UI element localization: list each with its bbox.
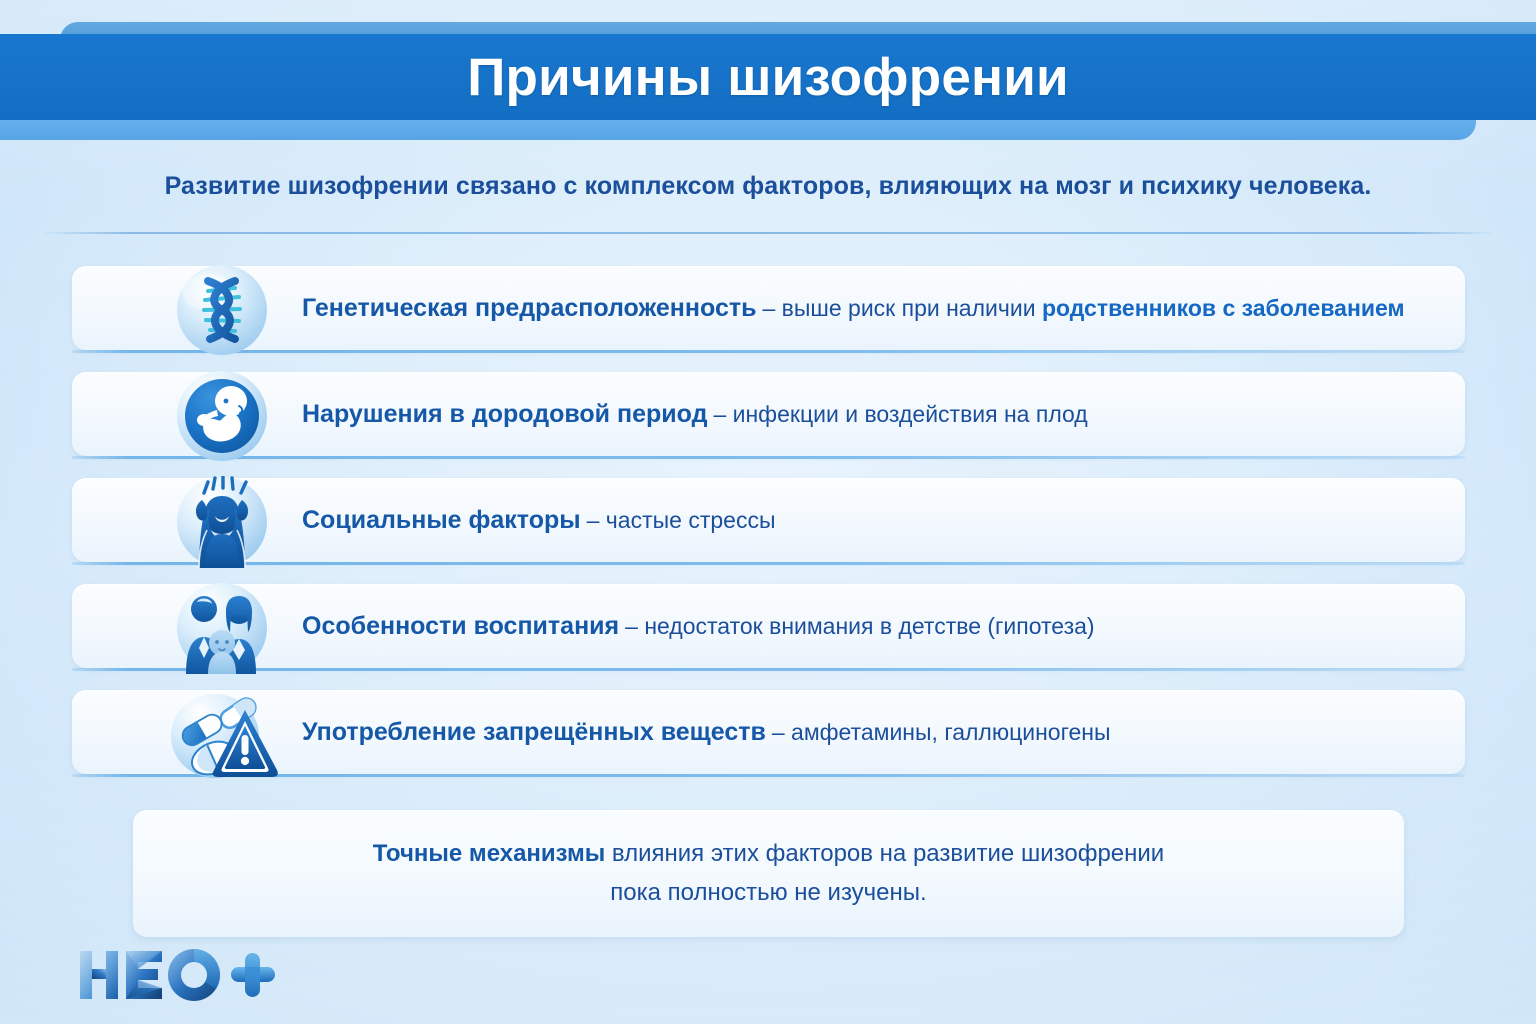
list-item[interactable]: Нарушения в дородовой период – инфекции … [0, 368, 1536, 466]
cause-rest: – частые стрессы [587, 507, 776, 534]
intro-divider [44, 232, 1492, 234]
cause-rest: – выше риск при наличии родственников с … [762, 295, 1404, 322]
cause-rest: – инфекции и воздействия на плод [713, 401, 1087, 428]
cause-lead: Употребление запрещённых веществ [302, 718, 766, 747]
dna-icon [163, 264, 281, 356]
cause-text: Генетическая предрасположенность – выше … [302, 262, 1404, 354]
cause-lead: Нарушения в дородовой период [302, 400, 707, 429]
conclusion-line-1: Точные механизмы влияния этих факторов н… [373, 835, 1164, 874]
family-icon [163, 582, 281, 674]
header: Причины шизофрении [0, 0, 1536, 140]
stressed-person-icon [163, 476, 281, 568]
intro-text: Развитие шизофрении связано с комплексом… [165, 172, 1372, 201]
pills-warning-icon [163, 688, 281, 780]
cause-lead: Социальные факторы [302, 506, 581, 535]
causes-list: Генетическая предрасположенность – выше … [0, 262, 1536, 792]
list-item[interactable]: Генетическая предрасположенность – выше … [0, 262, 1536, 360]
neo-plus-logo[interactable] [78, 945, 278, 1005]
list-item[interactable]: Социальные факторы – частые стрессы [0, 474, 1536, 572]
list-item[interactable]: Особенности воспитания – недостаток вним… [0, 580, 1536, 678]
conclusion-highlight: Точные механизмы [373, 840, 605, 867]
cause-text: Особенности воспитания – недостаток вним… [302, 580, 1095, 672]
cause-rest: – недостаток внимания в детстве (гипотез… [625, 613, 1094, 640]
cause-text: Употребление запрещённых веществ – амфет… [302, 686, 1111, 778]
intro-block: Развитие шизофрении связано с комплексом… [0, 172, 1536, 201]
cause-rest: – амфетамины, галлюциногены [772, 719, 1111, 746]
conclusion-line-1-rest: влияния этих факторов на развитие шизофр… [605, 840, 1164, 867]
conclusion-box: Точные механизмы влияния этих факторов н… [133, 810, 1404, 937]
header-bar: Причины шизофрении [0, 34, 1536, 120]
cause-highlight: родственников с заболеванием [1042, 295, 1405, 321]
fetus-icon [163, 370, 281, 462]
list-item[interactable]: Употребление запрещённых веществ – амфет… [0, 686, 1536, 784]
cause-lead: Генетическая предрасположенность [302, 294, 756, 323]
page-title: Причины шизофрении [467, 51, 1069, 104]
cause-text: Нарушения в дородовой период – инфекции … [302, 368, 1088, 460]
header-shelf-bottom [0, 118, 1476, 140]
conclusion-line-2: пока полностью не изучены. [610, 874, 926, 913]
infographic-poster: Причины шизофрении Развитие шизофрении с… [0, 0, 1536, 1024]
cause-lead: Особенности воспитания [302, 612, 619, 641]
cause-text: Социальные факторы – частые стрессы [302, 474, 775, 566]
